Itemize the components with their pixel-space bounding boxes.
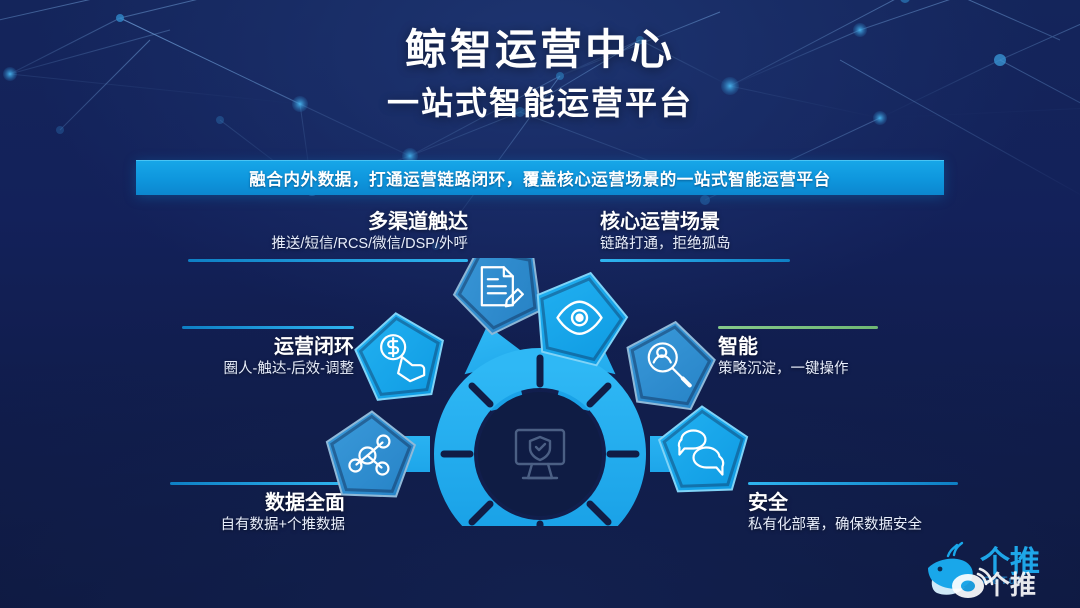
callout-title: 安全 [748,491,958,516]
page-title: 鲸智运营中心 [0,26,1080,74]
callout-title: 多渠道触达 [188,210,468,235]
brand-watermark: 个推 GeTui 个推 [920,538,1072,604]
callout-multichannel-reach: 多渠道触达 推送/短信/RCS/微信/DSP/外呼 [188,210,468,262]
callout-desc: 私有化部署，确保数据安全 [748,516,958,536]
callout-security: 安全 私有化部署，确保数据安全 [748,482,958,536]
tile-money[interactable] [352,309,448,402]
callout-desc: 推送/短信/RCS/微信/DSP/外呼 [188,235,468,255]
headline-banner-text: 融合内外数据，打通运营链路闭环，覆盖核心运营场景的一站式智能运营平台 [249,166,830,190]
title-block: 鲸智运营中心 一站式智能运营平台 [0,26,1080,124]
page-subtitle: 一站式智能运营平台 [0,78,1080,124]
tile-network[interactable] [325,410,416,497]
callout-title: 核心运营场景 [600,210,790,235]
callout-desc: 链路打通，拒绝孤岛 [600,235,790,255]
tile-chat[interactable] [658,405,749,492]
callout-core-scenarios: 核心运营场景 链路打通，拒绝孤岛 [600,210,790,262]
slide-canvas: 鲸智运营中心 一站式智能运营平台 融合内外数据，打通运营链路闭环，覆盖核心运营场… [0,0,1080,608]
tile-person-search[interactable] [620,316,719,411]
callout-rule [748,482,958,485]
headline-banner: 融合内外数据，打通运营链路闭环，覆盖核心运营场景的一站式智能运营平台 [136,160,944,195]
weibo-overlay-text: 个推 [984,570,1036,600]
hexagon-gear-diagram [318,258,762,526]
